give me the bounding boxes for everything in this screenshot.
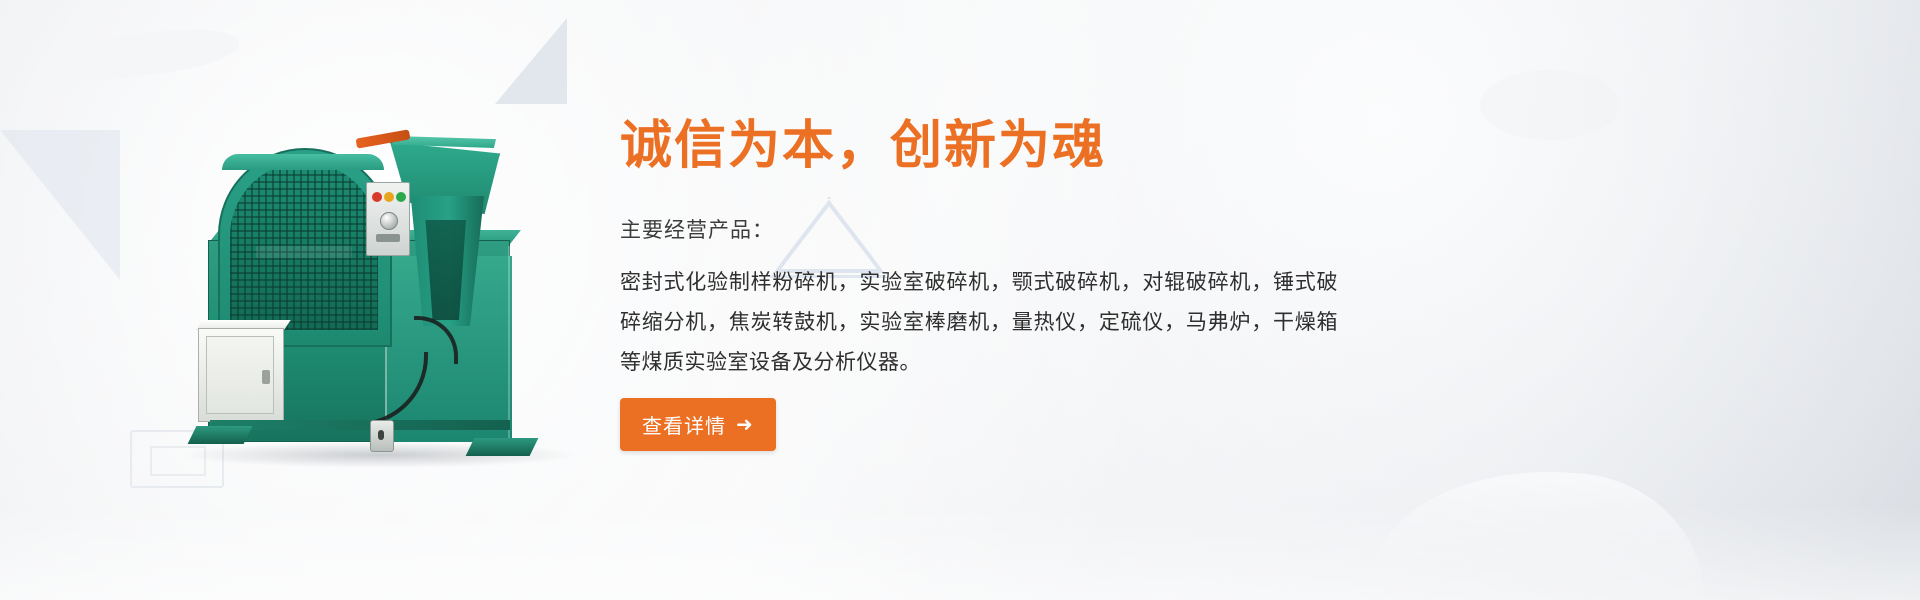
banner-content: 诚信为本，创新为魂 主要经营产品： 密封式化验制样粉碎机，实验室破碎机，颚式破碎… — [620, 0, 1380, 600]
view-details-label: 查看详情 — [642, 410, 726, 439]
machine-foot-left — [188, 426, 253, 444]
product-description: 密封式化验制样粉碎机，实验室破碎机，颚式破碎机，对辊破碎机，锤式破碎缩分机，焦炭… — [620, 262, 1338, 382]
banner-subtitle: 主要经营产品： — [620, 214, 774, 244]
decorative-ellipse — [1480, 70, 1620, 140]
decorative-swoosh-bottom — [1375, 453, 1716, 600]
banner-headline: 诚信为本，创新为魂 — [620, 120, 1106, 172]
machine-edge-highlight-right — [508, 246, 510, 442]
product-image — [170, 70, 590, 470]
view-details-button[interactable]: 查看详情 ➜ — [620, 398, 776, 451]
indicator-light-red-icon — [372, 192, 382, 202]
machine-cabinet-handle — [262, 370, 270, 384]
indicator-light-yellow-icon — [384, 192, 394, 202]
machine-control-button — [376, 234, 400, 242]
decorative-triangle-left — [0, 130, 120, 280]
machine-base-bar — [210, 420, 510, 430]
machine-drum-rim — [222, 154, 384, 170]
indicator-light-green-icon — [396, 192, 406, 202]
arrow-right-icon: ➜ — [736, 415, 754, 435]
machine-control-knob — [380, 212, 398, 230]
machine-foot-right — [466, 438, 539, 456]
machine-label-plate — [256, 246, 352, 258]
lock-icon — [378, 430, 384, 440]
hero-banner: 诚信为本，创新为魂 主要经营产品： 密封式化验制样粉碎机，实验室破碎机，颚式破碎… — [0, 0, 1920, 600]
